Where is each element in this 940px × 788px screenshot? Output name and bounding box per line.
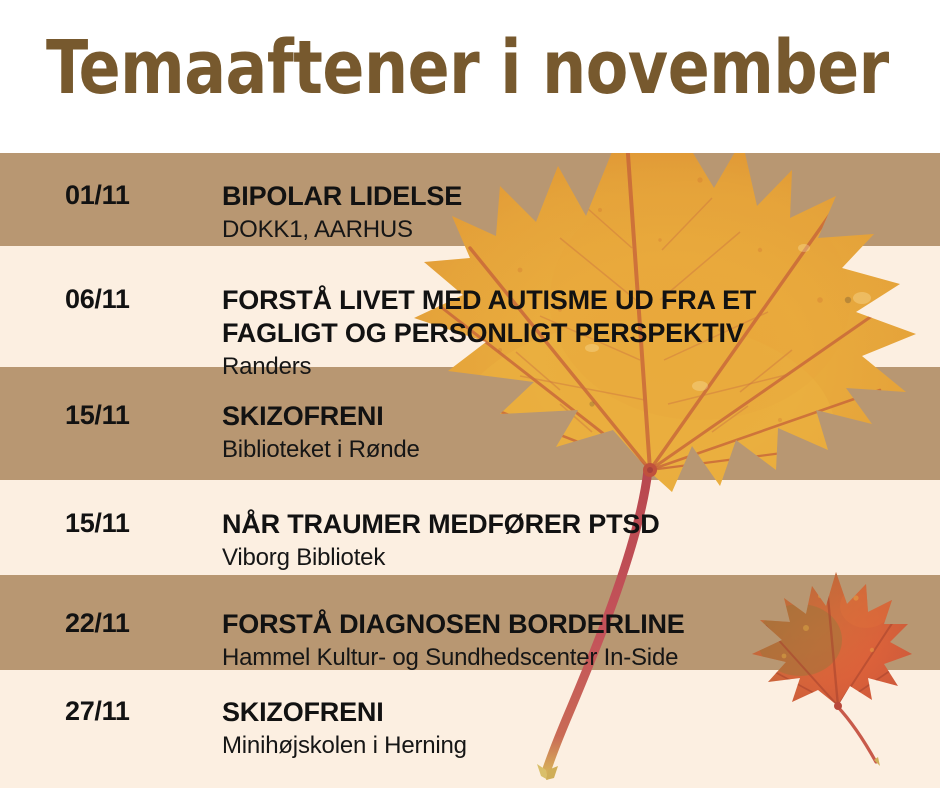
- band-row-4: [0, 480, 940, 575]
- band-row-2: [0, 246, 940, 367]
- page-title: Temaaftener i november: [46, 26, 889, 110]
- band-row-1: [0, 153, 940, 246]
- band-row-6: [0, 670, 940, 788]
- band-row-5: [0, 575, 940, 670]
- poster-canvas: Temaaftener i november 01/11 BIPOLAR LID…: [0, 0, 940, 788]
- band-row-3: [0, 367, 940, 480]
- poster-header: Temaaftener i november: [0, 0, 940, 153]
